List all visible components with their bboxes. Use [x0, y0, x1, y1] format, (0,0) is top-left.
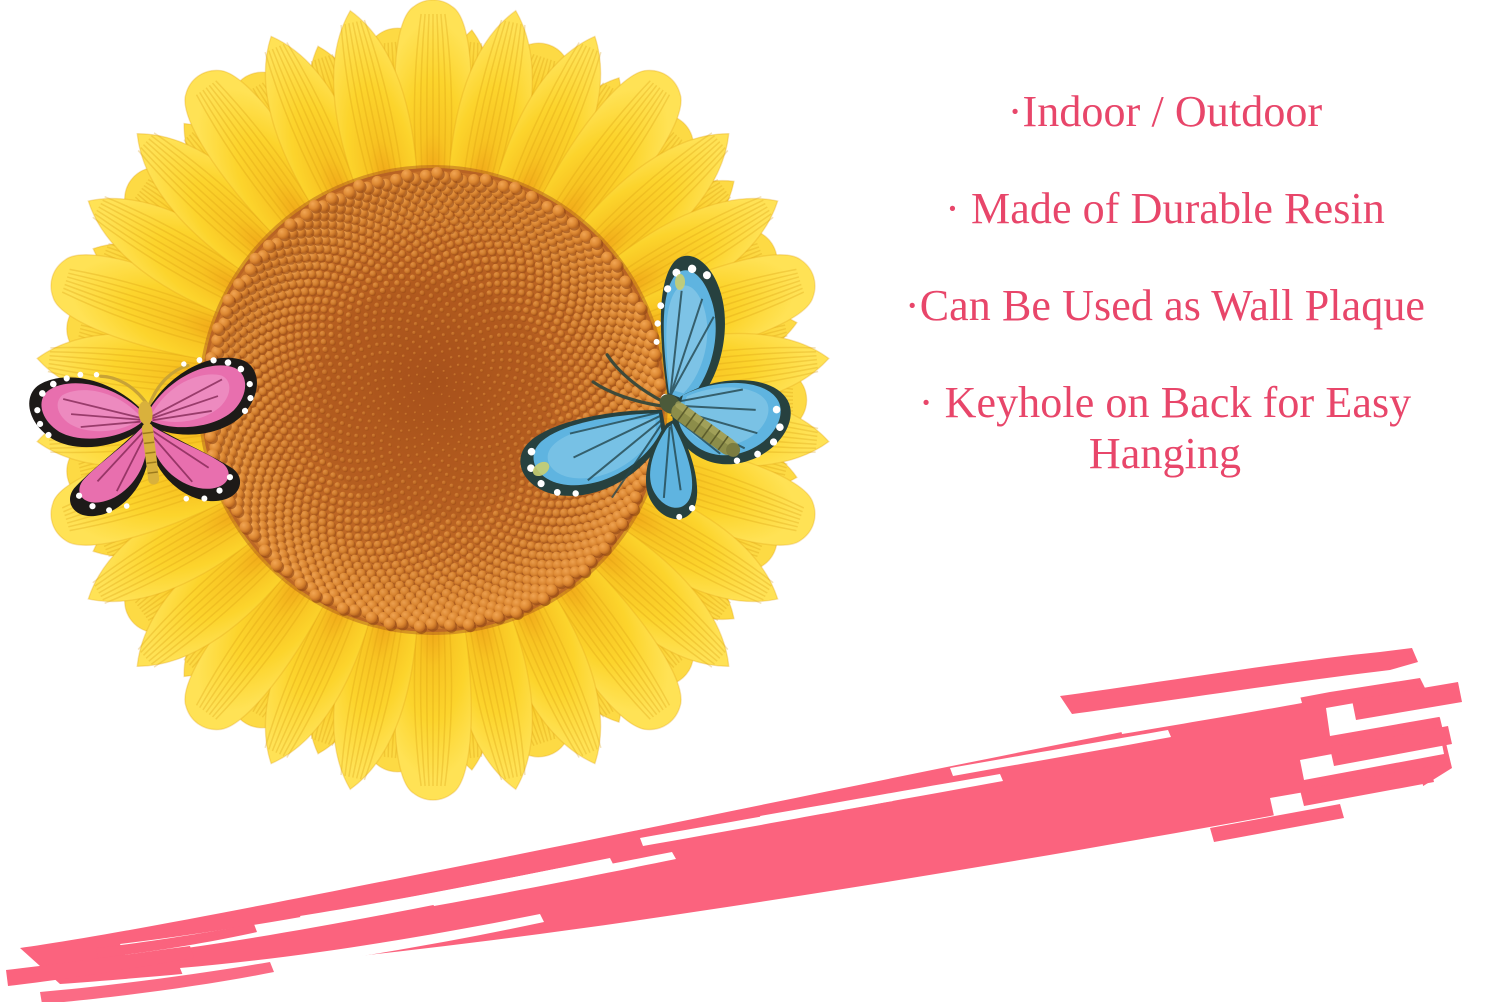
- bullet-icon: ·: [905, 281, 920, 330]
- feature-item-keyhole-hanging: · Keyhole on Back for Easy Hanging: [840, 377, 1490, 479]
- feature-item-wall-plaque: ·Can Be Used as Wall Plaque: [840, 280, 1490, 331]
- sunflower-disk: [201, 167, 667, 634]
- feature-item-indoor-outdoor: ·Indoor / Outdoor: [840, 86, 1490, 137]
- feature-label: Indoor / Outdoor: [1022, 87, 1322, 136]
- bullet-icon: ·: [919, 378, 934, 427]
- feature-label: Keyhole on Back for Easy Hanging: [945, 378, 1412, 478]
- feature-label: Can Be Used as Wall Plaque: [920, 281, 1425, 330]
- feature-label: Made of Durable Resin: [971, 184, 1385, 233]
- bullet-icon: ·: [1008, 87, 1023, 136]
- bullet-icon: ·: [945, 184, 960, 233]
- product-image-canvas: ·Indoor / Outdoor · Made of Durable Resi…: [0, 0, 1500, 1002]
- brush-stroke-graphic: [0, 648, 1500, 1002]
- pink-brush-stroke: [0, 648, 1500, 1002]
- feature-bullet-list: ·Indoor / Outdoor · Made of Durable Resi…: [840, 86, 1490, 479]
- feature-item-durable-resin: · Made of Durable Resin: [840, 183, 1490, 234]
